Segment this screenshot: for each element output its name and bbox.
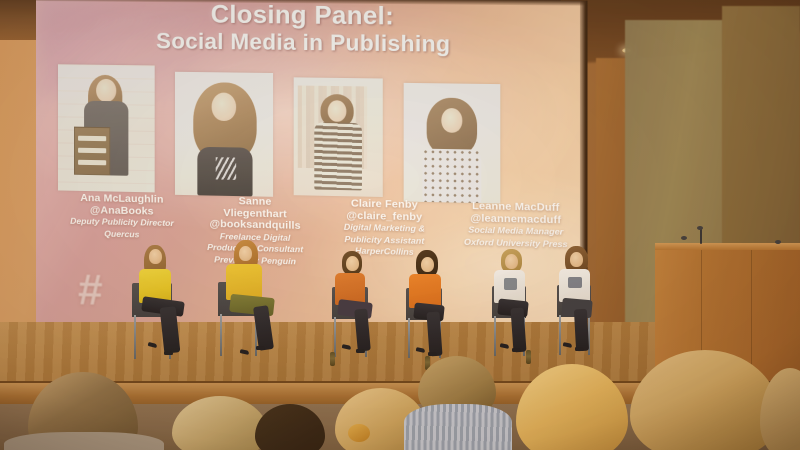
speaker-photo-1 (58, 64, 155, 192)
microphone-stand-icon (700, 228, 702, 244)
hashtag-symbol: # (78, 265, 103, 315)
hair-accessory (348, 424, 370, 442)
speaker-caption-4: Leanne MacDuff @leannemacduff Social Med… (451, 200, 581, 250)
speaker-4-org: Oxford University Press (451, 236, 581, 251)
podium-top (655, 243, 800, 250)
audience-body-1 (4, 432, 164, 450)
speaker-photo-3 (294, 77, 383, 197)
speaker-photo-strip (58, 68, 575, 207)
microphone-icon (775, 240, 781, 244)
slide-hashtag: # (78, 265, 103, 316)
water-bottle (330, 352, 335, 366)
conference-panel-photograph: Closing Panel: Social Media in Publishin… (0, 0, 800, 450)
speaker-photo-4 (404, 83, 501, 204)
speaker-photo-2 (175, 72, 273, 197)
water-bottle (526, 350, 531, 364)
slide-title: Closing Panel: Social Media in Publishin… (36, 0, 577, 58)
speaker-caption-1: Ana McLaughlin @AnaBooks Deputy Publicit… (54, 192, 190, 241)
microphone-icon (697, 226, 703, 230)
microphone-icon (681, 236, 687, 240)
tote-bag (74, 127, 110, 176)
audience-body-5 (404, 404, 512, 450)
